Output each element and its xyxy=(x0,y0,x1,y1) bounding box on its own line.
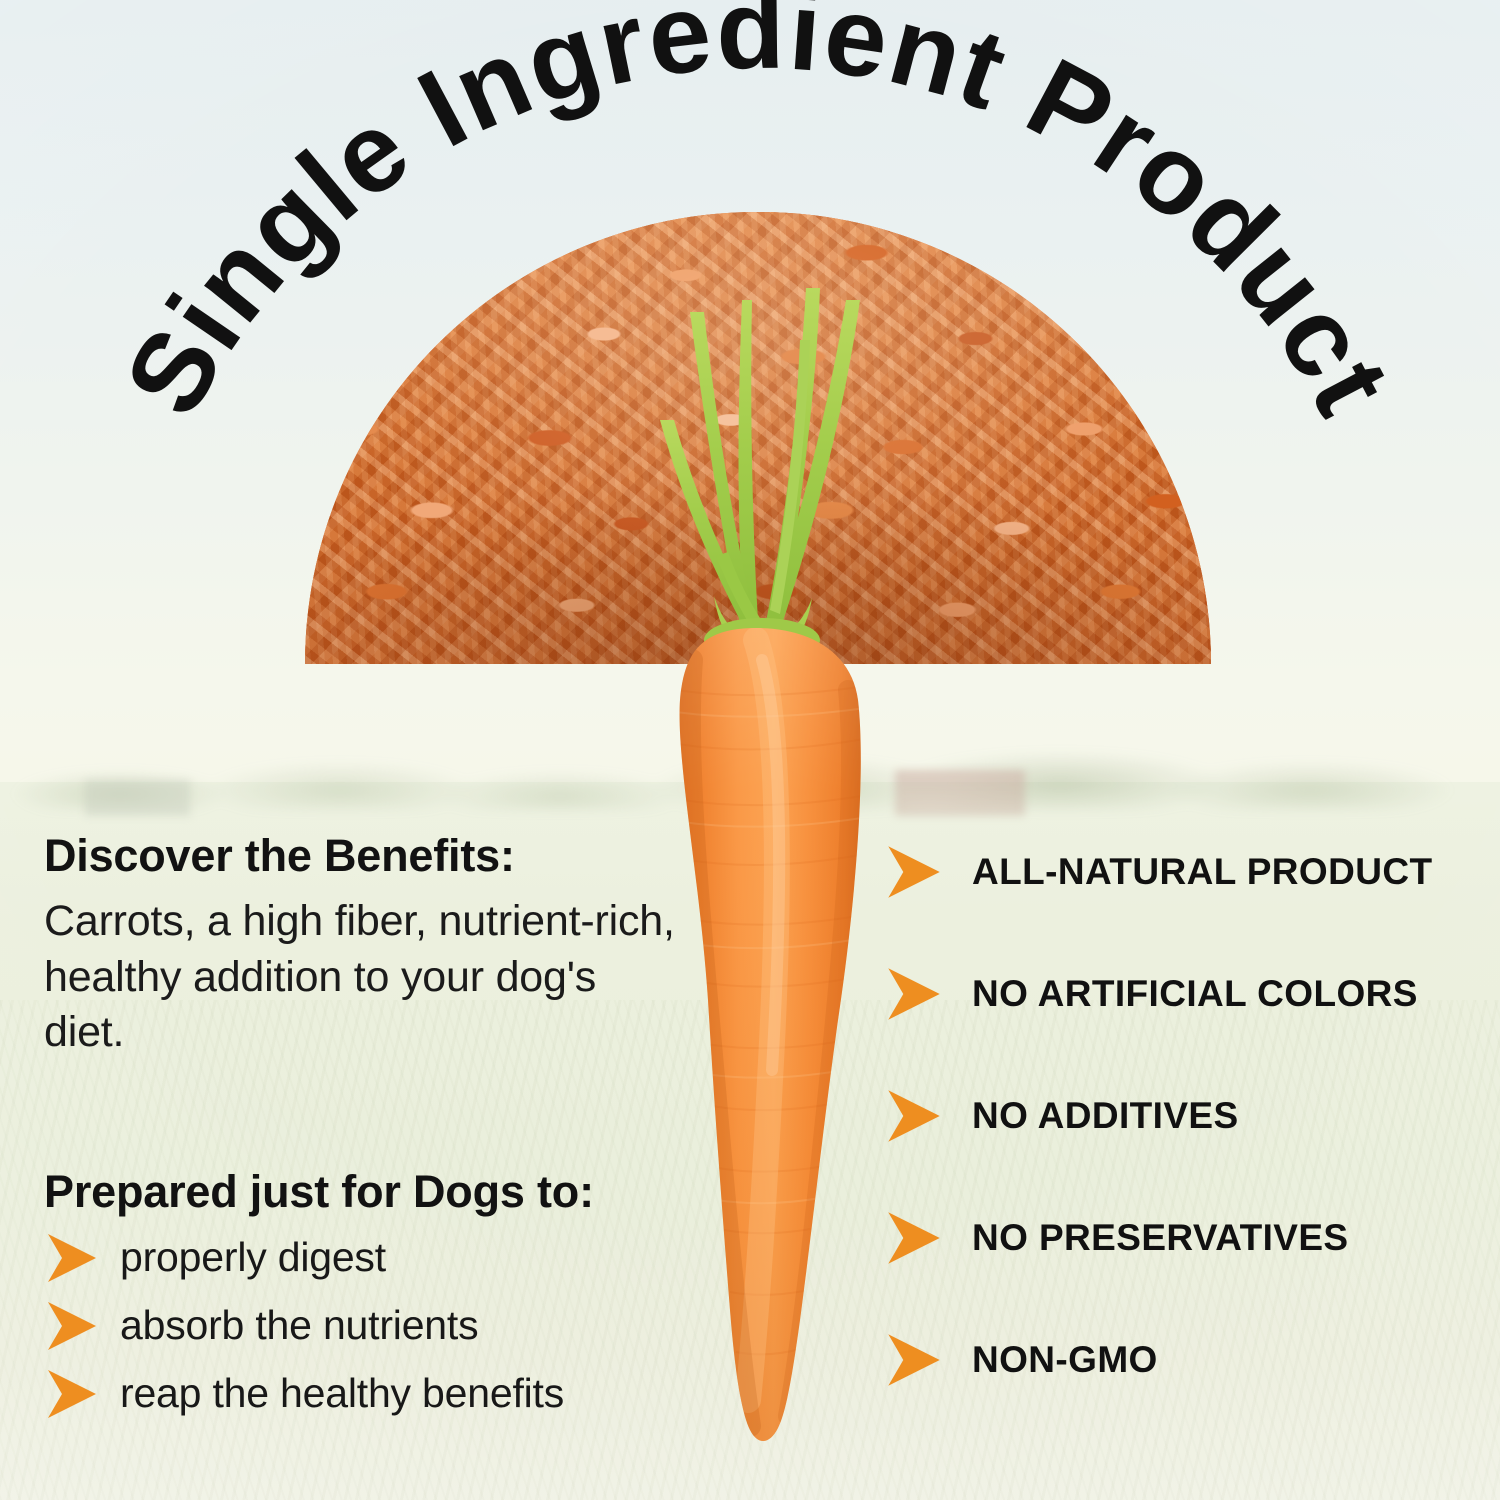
headline-text: Single Ingredient Product xyxy=(101,0,1416,435)
feature-label: NO PRESERVATIVES xyxy=(972,1217,1349,1259)
list-item: reap the healthy benefits xyxy=(44,1368,704,1420)
infographic-canvas: Single Ingredient Product xyxy=(0,0,1500,1500)
feature-label: NO ADDITIVES xyxy=(972,1095,1239,1137)
list-item-label: properly digest xyxy=(120,1236,386,1279)
features-block: ALL-NATURAL PRODUCT NO ARTIFICIAL COLORS… xyxy=(884,836,1484,1396)
feature-label: NON-GMO xyxy=(972,1339,1158,1381)
arrow-bullet-icon xyxy=(884,844,944,900)
arrow-bullet-icon xyxy=(884,1210,944,1266)
arrow-bullet-icon xyxy=(44,1300,100,1352)
feature-item: NO PRESERVATIVES xyxy=(884,1202,1484,1274)
feature-item: NO ADDITIVES xyxy=(884,1080,1484,1152)
list-item-label: reap the healthy benefits xyxy=(120,1372,564,1415)
arrow-bullet-icon xyxy=(884,1088,944,1144)
feature-item: NON-GMO xyxy=(884,1324,1484,1396)
arrow-bullet-icon xyxy=(44,1232,100,1284)
feature-item: ALL-NATURAL PRODUCT xyxy=(884,836,1484,908)
list-item: properly digest xyxy=(44,1232,704,1284)
prepared-heading: Prepared just for Dogs to: xyxy=(44,1168,704,1216)
prepared-block: Prepared just for Dogs to: properly dige… xyxy=(44,1168,704,1420)
list-item: absorb the nutrients xyxy=(44,1300,704,1352)
list-item-label: absorb the nutrients xyxy=(120,1304,478,1347)
headline-label: Single Ingredient Product xyxy=(101,0,1416,435)
benefits-heading: Discover the Benefits: xyxy=(44,832,684,880)
arrow-bullet-icon xyxy=(884,1332,944,1388)
feature-label: ALL-NATURAL PRODUCT xyxy=(972,851,1432,893)
benefits-block: Discover the Benefits: Carrots, a high f… xyxy=(44,832,684,1061)
benefits-body: Carrots, a high fiber, nutrient-rich, he… xyxy=(44,894,684,1062)
arrow-bullet-icon xyxy=(884,966,944,1022)
feature-label: NO ARTIFICIAL COLORS xyxy=(972,973,1418,1015)
arrow-bullet-icon xyxy=(44,1368,100,1420)
feature-item: NO ARTIFICIAL COLORS xyxy=(884,958,1484,1030)
headline-arc: Single Ingredient Product xyxy=(0,0,1500,760)
